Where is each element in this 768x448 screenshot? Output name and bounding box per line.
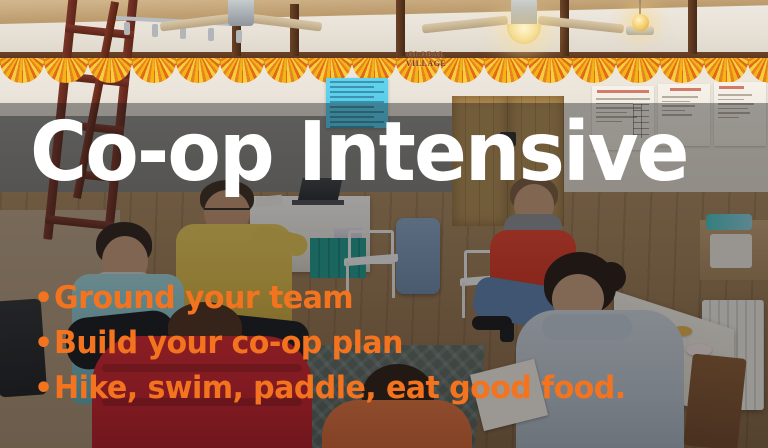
sunflower-icon <box>748 58 768 83</box>
ceiling-post <box>290 4 299 56</box>
bullet-marker-icon: • <box>34 366 54 411</box>
sunflower-icon <box>484 58 528 83</box>
list-item-label: Hike, swim, paddle, eat good food. <box>54 366 626 411</box>
bullet-list: • Ground your team • Build your co-op pl… <box>34 276 754 411</box>
sunflower-icon <box>572 58 616 83</box>
pendant-bulb-icon <box>632 14 649 31</box>
sunflower-icon <box>264 58 308 83</box>
sunflower-icon <box>660 58 704 83</box>
track-spot-light-icon <box>208 28 214 41</box>
page-title: Co-op Intensive <box>30 112 688 194</box>
sunflower-icon <box>528 58 572 83</box>
sunflower-icon <box>616 58 660 83</box>
list-item: • Hike, swim, paddle, eat good food. <box>34 366 754 411</box>
sunflower-icon <box>0 58 44 83</box>
list-item: • Build your co-op plan <box>34 321 754 366</box>
list-item-label: Build your co-op plan <box>54 321 403 366</box>
bullet-marker-icon: • <box>34 276 54 321</box>
track-spot-light-icon <box>124 22 130 35</box>
list-item: • Ground your team <box>34 276 754 321</box>
sunflower-icon <box>44 58 88 83</box>
ceiling-post <box>688 0 697 54</box>
global-village-sign: GLOBAL VILLAGE <box>398 48 454 78</box>
track-spot-light-icon <box>236 30 242 43</box>
list-item-label: Ground your team <box>54 276 353 321</box>
sunflower-icon <box>704 58 748 83</box>
ceiling-post <box>560 0 569 56</box>
sunflower-icon <box>220 58 264 83</box>
sunflower-icon <box>176 58 220 83</box>
bullet-marker-icon: • <box>34 321 54 366</box>
promotional-slide: GLOBAL VILLAGE <box>0 0 768 448</box>
fan-hub <box>228 0 254 26</box>
track-spot-light-icon <box>152 24 158 37</box>
sunflower-icon <box>132 58 176 83</box>
sunflower-icon <box>88 58 132 83</box>
